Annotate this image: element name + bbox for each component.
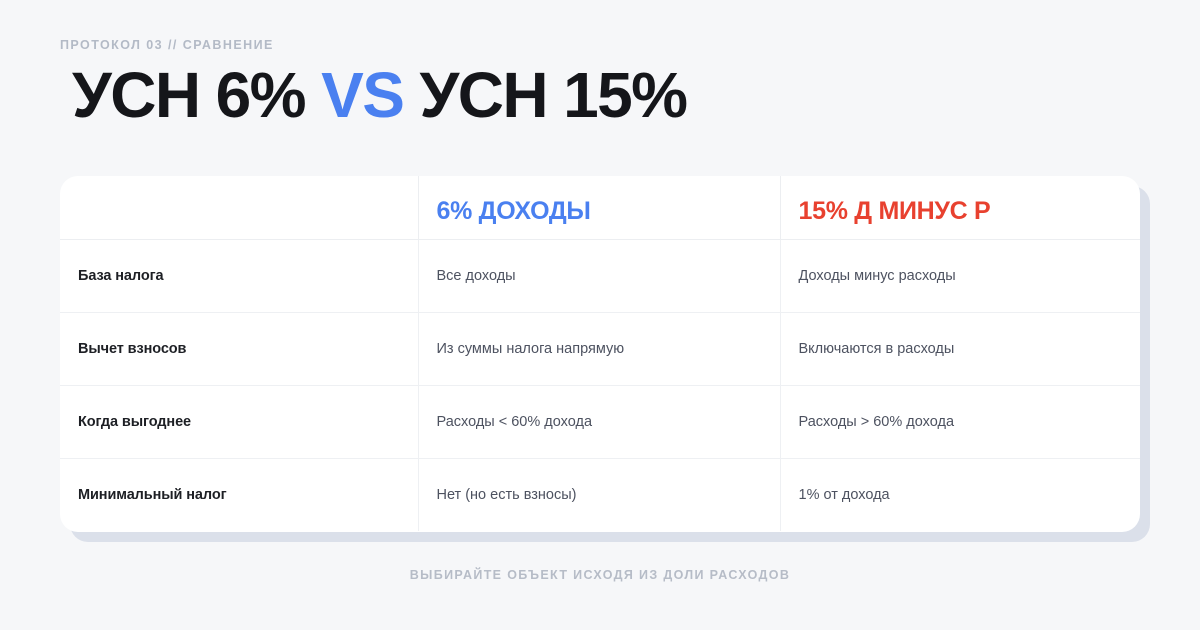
table-row: База налога Все доходы Доходы минус расх… [60,239,1140,312]
row-value-usn15: Доходы минус расходы [780,239,1140,312]
table-row: Вычет взносов Из суммы налога напрямую В… [60,312,1140,385]
row-label: Минимальный налог [60,458,418,531]
eyebrow-label: ПРОТОКОЛ 03 // СРАВНЕНИЕ [60,38,274,52]
table-row: Когда выгоднее Расходы < 60% дохода Расх… [60,385,1140,458]
row-label: Когда выгоднее [60,385,418,458]
row-label: База налога [60,239,418,312]
column-header-usn15: 15% Д МИНУС Р [780,176,1140,239]
row-value-usn6: Нет (но есть взносы) [418,458,780,531]
row-value-usn6: Из суммы налога напрямую [418,312,780,385]
page-title: УСН 6% VS УСН 15% [72,60,686,130]
comparison-card-wrapper: 6% ДОХОДЫ 15% Д МИНУС Р База налога Все … [60,176,1140,532]
table-header: 6% ДОХОДЫ 15% Д МИНУС Р [60,176,1140,239]
row-value-usn15: Включаются в расходы [780,312,1140,385]
row-label: Вычет взносов [60,312,418,385]
footer-note: ВЫБИРАЙТЕ ОБЪЕКТ ИСХОДЯ ИЗ ДОЛИ РАСХОДОВ [0,568,1200,582]
page-title-part-one: УСН 6% [72,59,305,131]
page-title-vs: VS [321,59,403,131]
row-value-usn15: 1% от дохода [780,458,1140,531]
row-value-usn6: Расходы < 60% дохода [418,385,780,458]
column-header-usn6: 6% ДОХОДЫ [418,176,780,239]
table-header-row: 6% ДОХОДЫ 15% Д МИНУС Р [60,176,1140,239]
comparison-table: 6% ДОХОДЫ 15% Д МИНУС Р База налога Все … [60,176,1140,531]
table-body: База налога Все доходы Доходы минус расх… [60,239,1140,531]
row-value-usn15: Расходы > 60% дохода [780,385,1140,458]
row-value-usn6: Все доходы [418,239,780,312]
table-row: Минимальный налог Нет (но есть взносы) 1… [60,458,1140,531]
comparison-infographic: ПРОТОКОЛ 03 // СРАВНЕНИЕ УСН 6% VS УСН 1… [0,0,1200,630]
column-header-criteria [60,176,418,239]
page-title-part-two: УСН 15% [420,59,687,131]
comparison-card: 6% ДОХОДЫ 15% Д МИНУС Р База налога Все … [60,176,1140,532]
